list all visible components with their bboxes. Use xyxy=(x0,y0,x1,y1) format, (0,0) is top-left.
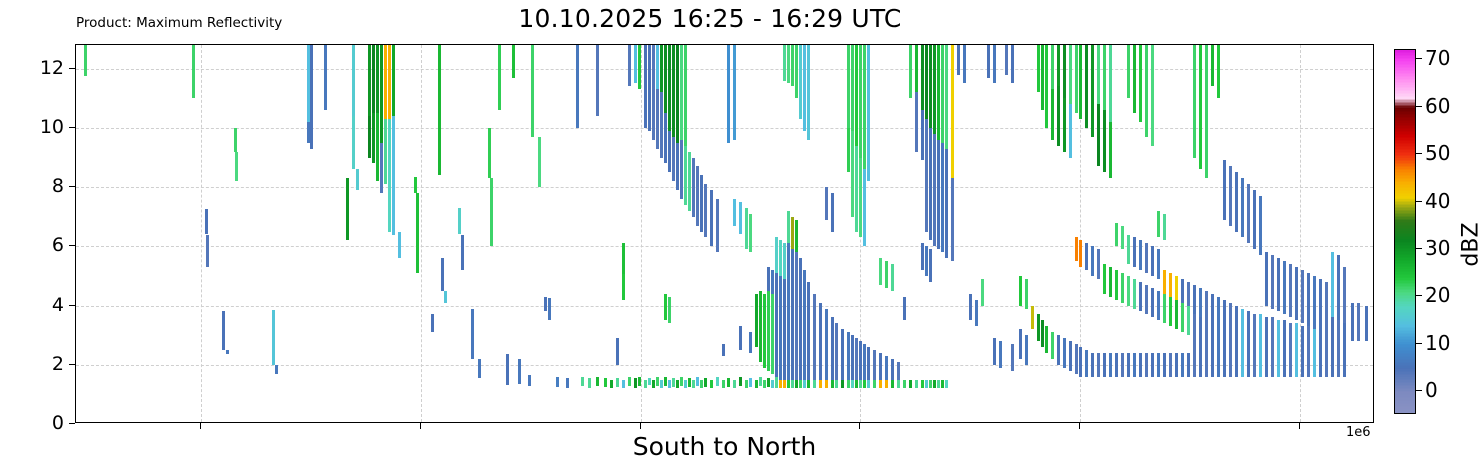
reflectivity-segment xyxy=(1037,314,1040,341)
reflectivity-segment xyxy=(851,45,854,131)
reflectivity-segment xyxy=(1157,291,1160,321)
reflectivity-segment xyxy=(1069,341,1072,371)
reflectivity-segment xyxy=(745,380,748,389)
reflectivity-segment xyxy=(807,380,810,389)
reflectivity-segment xyxy=(622,243,625,274)
reflectivity-segment xyxy=(933,380,936,389)
reflectivity-segment xyxy=(692,380,695,389)
reflectivity-segment xyxy=(807,282,810,386)
reflectivity-column xyxy=(855,45,858,423)
reflectivity-column xyxy=(813,45,816,423)
reflectivity-segment xyxy=(733,199,736,226)
reflectivity-segment xyxy=(1181,303,1184,333)
reflectivity-segment xyxy=(807,45,810,140)
reflectivity-segment xyxy=(863,380,866,389)
reflectivity-segment xyxy=(803,270,806,385)
reflectivity-segment xyxy=(1151,246,1154,276)
reflectivity-column xyxy=(739,45,742,423)
reflectivity-column xyxy=(275,45,278,423)
reflectivity-column xyxy=(969,45,972,423)
reflectivity-column xyxy=(915,45,918,423)
reflectivity-segment xyxy=(672,137,675,181)
reflectivity-column xyxy=(1313,45,1316,423)
reflectivity-column xyxy=(1045,45,1048,423)
x-tick-mark xyxy=(859,423,860,429)
reflectivity-segment xyxy=(779,240,782,276)
reflectivity-segment xyxy=(648,45,651,131)
reflectivity-segment xyxy=(1103,353,1106,377)
reflectivity-segment xyxy=(799,380,802,389)
reflectivity-segment xyxy=(903,297,906,321)
reflectivity-segment xyxy=(680,140,683,199)
reflectivity-column xyxy=(352,45,355,423)
reflectivity-column xyxy=(628,45,631,423)
reflectivity-segment xyxy=(847,45,850,128)
reflectivity-column xyxy=(461,45,464,423)
reflectivity-segment xyxy=(660,45,663,92)
reflectivity-segment xyxy=(556,377,559,387)
reflectivity-segment xyxy=(398,232,401,259)
reflectivity-column xyxy=(634,45,637,423)
reflectivity-segment xyxy=(771,294,774,374)
reflectivity-column xyxy=(771,45,774,423)
reflectivity-column xyxy=(831,45,834,423)
reflectivity-segment xyxy=(1223,300,1226,377)
reflectivity-column xyxy=(745,45,748,423)
reflectivity-segment xyxy=(795,220,798,253)
reflectivity-segment xyxy=(676,45,679,143)
reflectivity-column xyxy=(851,45,854,423)
reflectivity-segment xyxy=(356,169,359,190)
reflectivity-segment xyxy=(566,378,569,388)
reflectivity-segment xyxy=(1079,45,1082,119)
reflectivity-segment xyxy=(727,45,730,143)
reflectivity-segment xyxy=(1289,323,1292,376)
reflectivity-segment xyxy=(1235,306,1238,377)
reflectivity-segment xyxy=(672,45,675,137)
reflectivity-column xyxy=(444,45,447,423)
reflectivity-segment xyxy=(324,45,327,110)
reflectivity-segment xyxy=(84,45,87,76)
reflectivity-segment xyxy=(993,45,996,83)
reflectivity-segment xyxy=(1145,285,1148,315)
reflectivity-segment xyxy=(1121,353,1124,377)
reflectivity-segment xyxy=(1319,329,1322,376)
reflectivity-segment xyxy=(548,298,551,320)
reflectivity-segment xyxy=(1247,184,1250,243)
y-tick-label: 0 xyxy=(0,412,64,434)
reflectivity-segment xyxy=(885,356,888,383)
reflectivity-segment xyxy=(1211,294,1214,377)
reflectivity-segment xyxy=(867,380,870,389)
reflectivity-segment xyxy=(1127,45,1130,98)
reflectivity-column xyxy=(1217,45,1220,423)
reflectivity-segment xyxy=(783,279,786,383)
reflectivity-segment xyxy=(604,378,607,387)
reflectivity-segment xyxy=(1091,246,1094,276)
reflectivity-column xyxy=(644,45,647,423)
reflectivity-segment xyxy=(628,377,631,386)
reflectivity-segment xyxy=(763,294,766,368)
reflectivity-segment xyxy=(1109,122,1112,178)
colorbar-tick-label: 50 xyxy=(1425,141,1450,165)
reflectivity-segment xyxy=(921,110,924,160)
reflectivity-column xyxy=(775,45,778,423)
reflectivity-segment xyxy=(1045,45,1048,128)
reflectivity-segment xyxy=(478,359,481,378)
reflectivity-column xyxy=(596,45,599,423)
colorbar-tick-label: 60 xyxy=(1425,94,1450,118)
reflectivity-column xyxy=(1051,45,1054,423)
reflectivity-column xyxy=(957,45,960,423)
reflectivity-column xyxy=(431,45,434,423)
reflectivity-segment xyxy=(1351,303,1354,341)
colorbar-tick-label: 20 xyxy=(1425,283,1450,307)
reflectivity-segment xyxy=(859,341,862,382)
reflectivity-column xyxy=(803,45,806,423)
reflectivity-column xyxy=(616,45,619,423)
reflectivity-segment xyxy=(981,279,984,306)
reflectivity-column xyxy=(1011,45,1014,423)
reflectivity-column xyxy=(384,45,387,423)
reflectivity-segment xyxy=(1019,276,1022,306)
reflectivity-column xyxy=(879,45,882,423)
reflectivity-segment xyxy=(622,380,625,389)
reflectivity-segment xyxy=(779,276,782,380)
reflectivity-segment xyxy=(638,377,641,386)
reflectivity-segment xyxy=(969,294,972,321)
reflectivity-segment xyxy=(668,297,671,324)
reflectivity-segment xyxy=(937,45,940,140)
x-tick-mark xyxy=(420,423,421,429)
reflectivity-segment xyxy=(925,45,928,119)
reflectivity-segment xyxy=(380,143,383,193)
reflectivity-segment xyxy=(512,45,515,78)
reflectivity-segment xyxy=(951,178,954,261)
reflectivity-segment xyxy=(656,89,659,148)
reflectivity-column xyxy=(638,45,641,423)
reflectivity-segment xyxy=(1041,45,1044,110)
reflectivity-segment xyxy=(352,45,355,116)
reflectivity-column xyxy=(1169,45,1172,423)
x-tick-mark xyxy=(640,423,641,429)
reflectivity-segment xyxy=(929,128,932,241)
reflectivity-segment xyxy=(847,128,850,172)
reflectivity-column xyxy=(975,45,978,423)
reflectivity-segment xyxy=(506,354,509,385)
reflectivity-segment xyxy=(771,270,774,294)
reflectivity-segment xyxy=(859,158,862,238)
colorbar-tick-mark xyxy=(1416,106,1422,107)
reflectivity-segment xyxy=(775,377,778,389)
reflectivity-segment xyxy=(733,45,736,140)
reflectivity-column xyxy=(767,45,770,423)
reflectivity-column xyxy=(835,45,838,423)
reflectivity-segment xyxy=(1157,211,1160,238)
reflectivity-column xyxy=(897,45,900,423)
reflectivity-column xyxy=(795,45,798,423)
reflectivity-column xyxy=(1235,45,1238,423)
reflectivity-segment xyxy=(783,380,786,389)
reflectivity-column xyxy=(235,45,238,423)
reflectivity-column xyxy=(310,45,313,423)
reflectivity-segment xyxy=(1253,190,1256,249)
reflectivity-segment xyxy=(192,45,195,98)
reflectivity-column xyxy=(206,45,209,423)
reflectivity-segment xyxy=(1343,323,1346,376)
reflectivity-segment xyxy=(925,246,928,276)
reflectivity-segment xyxy=(652,45,655,140)
reflectivity-segment xyxy=(384,45,387,119)
reflectivity-segment xyxy=(616,378,619,387)
reflectivity-column xyxy=(799,45,802,423)
reflectivity-segment xyxy=(680,45,683,140)
reflectivity-segment xyxy=(787,211,790,244)
reflectivity-segment xyxy=(1157,353,1160,377)
reflectivity-column xyxy=(1301,45,1304,423)
reflectivity-segment xyxy=(847,332,850,382)
reflectivity-segment xyxy=(925,119,928,232)
reflectivity-segment xyxy=(1325,282,1328,335)
reflectivity-segment xyxy=(664,113,667,163)
reflectivity-column xyxy=(891,45,894,423)
reflectivity-segment xyxy=(957,45,960,75)
reflectivity-segment xyxy=(755,294,758,347)
reflectivity-segment xyxy=(1229,303,1232,377)
reflectivity-segment xyxy=(1229,166,1232,225)
reflectivity-segment xyxy=(819,303,822,383)
reflectivity-segment xyxy=(791,380,794,389)
colorbar-tick-label: 0 xyxy=(1425,378,1438,402)
reflectivity-segment xyxy=(987,45,990,78)
reflectivity-column xyxy=(660,45,663,423)
reflectivity-segment xyxy=(825,187,828,220)
reflectivity-segment xyxy=(855,45,858,146)
reflectivity-segment xyxy=(791,249,794,385)
reflectivity-segment xyxy=(648,378,651,385)
plot-area[interactable] xyxy=(75,44,1374,423)
reflectivity-column xyxy=(1289,45,1292,423)
reflectivity-segment xyxy=(941,45,944,143)
colorbar[interactable] xyxy=(1394,49,1416,414)
colorbar-band xyxy=(1395,413,1415,414)
reflectivity-segment xyxy=(909,380,912,389)
reflectivity-segment xyxy=(1075,45,1078,113)
reflectivity-column xyxy=(937,45,940,423)
reflectivity-segment xyxy=(767,291,770,371)
reflectivity-segment xyxy=(867,347,870,383)
reflectivity-segment xyxy=(716,199,719,252)
reflectivity-segment xyxy=(700,380,703,389)
reflectivity-segment xyxy=(416,193,419,273)
colorbar-tick-mark xyxy=(1416,390,1422,391)
reflectivity-column xyxy=(700,45,703,423)
reflectivity-segment xyxy=(1115,223,1118,247)
reflectivity-segment xyxy=(1127,353,1130,377)
reflectivity-segment xyxy=(710,380,713,389)
reflectivity-segment xyxy=(851,380,854,389)
reflectivity-segment xyxy=(739,202,742,235)
reflectivity-segment xyxy=(1271,317,1274,376)
reflectivity-segment xyxy=(684,380,687,389)
reflectivity-column xyxy=(576,45,579,423)
reflectivity-column xyxy=(873,45,876,423)
reflectivity-segment xyxy=(1337,320,1340,376)
reflectivity-segment xyxy=(739,377,742,386)
reflectivity-segment xyxy=(795,380,798,389)
reflectivity-segment xyxy=(716,377,719,386)
reflectivity-segment xyxy=(1199,317,1202,376)
reflectivity-segment xyxy=(1133,237,1136,267)
reflectivity-segment xyxy=(831,317,834,382)
reflectivity-segment xyxy=(759,291,762,362)
reflectivity-segment xyxy=(676,143,679,190)
reflectivity-segment xyxy=(346,208,349,241)
colorbar-tick-mark xyxy=(1416,248,1422,249)
reflectivity-column xyxy=(1127,45,1130,423)
reflectivity-column xyxy=(841,45,844,423)
reflectivity-column xyxy=(1115,45,1118,423)
reflectivity-column xyxy=(1163,45,1166,423)
reflectivity-segment xyxy=(975,300,978,327)
reflectivity-segment xyxy=(859,380,862,389)
reflectivity-column xyxy=(1193,45,1196,423)
reflectivity-segment xyxy=(799,45,802,119)
reflectivity-segment xyxy=(471,309,474,359)
reflectivity-segment xyxy=(873,350,876,383)
colorbar-tick-mark xyxy=(1416,343,1422,344)
reflectivity-segment xyxy=(1103,264,1106,294)
reflectivity-segment xyxy=(891,264,894,291)
reflectivity-column xyxy=(656,45,659,423)
reflectivity-segment xyxy=(692,158,695,217)
reflectivity-segment xyxy=(841,329,844,382)
reflectivity-segment xyxy=(1307,326,1310,376)
reflectivity-segment xyxy=(855,338,858,382)
reflectivity-column xyxy=(1109,45,1112,423)
reflectivity-column xyxy=(1151,45,1154,423)
reflectivity-segment xyxy=(783,243,786,279)
reflectivity-segment xyxy=(596,45,599,116)
reflectivity-column xyxy=(490,45,493,423)
reflectivity-column xyxy=(787,45,790,423)
reflectivity-column xyxy=(372,45,375,423)
reflectivity-column xyxy=(1241,45,1244,423)
reflectivity-segment xyxy=(638,45,641,89)
reflectivity-segment xyxy=(1127,235,1130,265)
reflectivity-segment xyxy=(727,378,730,387)
reflectivity-column xyxy=(981,45,984,423)
reflectivity-segment xyxy=(206,235,209,268)
reflectivity-column xyxy=(1187,45,1190,423)
reflectivity-segment xyxy=(1075,344,1078,374)
reflectivity-segment xyxy=(660,380,663,389)
reflectivity-segment xyxy=(346,178,349,208)
reflectivity-column xyxy=(867,45,870,423)
reflectivity-segment xyxy=(664,294,667,321)
reflectivity-segment xyxy=(1193,285,1196,315)
reflectivity-column xyxy=(1325,45,1328,423)
reflectivity-segment xyxy=(921,243,924,270)
reflectivity-column xyxy=(1365,45,1368,423)
reflectivity-column xyxy=(1097,45,1100,423)
reflectivity-segment xyxy=(867,45,870,181)
reflectivity-column xyxy=(1025,45,1028,423)
reflectivity-segment xyxy=(700,175,703,231)
reflectivity-column xyxy=(1223,45,1226,423)
reflectivity-column xyxy=(807,45,810,423)
reflectivity-column xyxy=(1157,45,1160,423)
reflectivity-segment xyxy=(1085,45,1088,128)
reflectivity-segment xyxy=(951,45,954,178)
reflectivity-segment xyxy=(222,311,225,349)
reflectivity-column xyxy=(376,45,379,423)
reflectivity-segment xyxy=(929,45,932,128)
reflectivity-column xyxy=(222,45,225,423)
reflectivity-segment xyxy=(1139,45,1142,122)
reflectivity-segment xyxy=(652,380,655,389)
reflectivity-column xyxy=(783,45,786,423)
colorbar-tick-mark xyxy=(1416,295,1422,296)
reflectivity-column xyxy=(392,45,395,423)
reflectivity-segment xyxy=(1271,255,1274,308)
reflectivity-segment xyxy=(634,378,637,388)
x-axis-label: South to North xyxy=(75,432,1374,461)
reflectivity-segment xyxy=(1295,323,1298,376)
reflectivity-column xyxy=(819,45,822,423)
reflectivity-segment xyxy=(384,119,387,184)
reflectivity-segment xyxy=(1103,110,1106,172)
reflectivity-segment xyxy=(1057,45,1060,86)
reflectivity-segment xyxy=(933,45,936,134)
reflectivity-segment xyxy=(909,45,912,98)
reflectivity-segment xyxy=(755,380,758,389)
reflectivity-segment xyxy=(835,323,838,382)
reflectivity-segment xyxy=(1145,45,1148,137)
reflectivity-segment xyxy=(999,341,1002,368)
figure-canvas: 10.10.2025 16:25 - 16:29 UTC Product: Ma… xyxy=(0,0,1482,470)
reflectivity-segment xyxy=(1005,45,1008,75)
reflectivity-segment xyxy=(392,116,395,234)
reflectivity-segment xyxy=(684,146,687,205)
reflectivity-column xyxy=(1079,45,1082,423)
reflectivity-segment xyxy=(1019,329,1022,359)
reflectivity-segment xyxy=(859,45,862,158)
y-tick-label: 6 xyxy=(0,234,64,256)
reflectivity-segment xyxy=(795,45,798,98)
reflectivity-segment xyxy=(1193,314,1196,376)
reflectivity-segment xyxy=(885,380,888,389)
reflectivity-segment xyxy=(873,380,876,389)
reflectivity-segment xyxy=(921,380,924,389)
reflectivity-segment xyxy=(767,267,770,291)
reflectivity-column xyxy=(1343,45,1346,423)
reflectivity-segment xyxy=(745,208,748,249)
reflectivity-segment xyxy=(616,338,619,365)
reflectivity-column xyxy=(668,45,671,423)
reflectivity-column xyxy=(791,45,794,423)
reflectivity-segment xyxy=(1075,237,1078,261)
reflectivity-column xyxy=(999,45,1002,423)
reflectivity-column xyxy=(684,45,687,423)
reflectivity-segment xyxy=(1253,314,1256,376)
y-tick-label: 12 xyxy=(0,57,64,79)
reflectivity-segment xyxy=(588,378,591,388)
reflectivity-column xyxy=(749,45,752,423)
reflectivity-segment xyxy=(787,45,790,83)
reflectivity-segment xyxy=(696,377,699,386)
reflectivity-column xyxy=(1331,45,1334,423)
